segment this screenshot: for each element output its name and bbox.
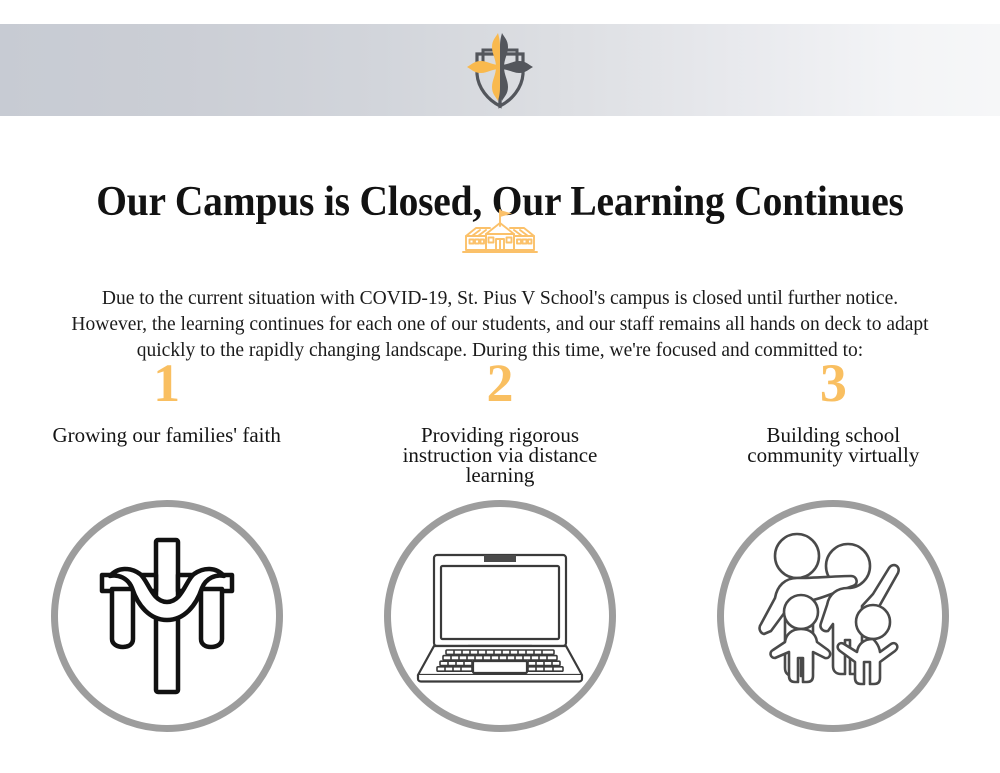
draped-cross-icon bbox=[92, 534, 242, 699]
school-logo bbox=[452, 24, 548, 116]
commitment-icon-cell-1 bbox=[0, 500, 333, 732]
commitment-label-2: Providing rigorous instruction via dista… bbox=[380, 425, 620, 485]
commitment-item-3: 3 Building school community virtually bbox=[667, 355, 1000, 485]
laptop-icon bbox=[412, 549, 588, 683]
cross-shield-logo-icon bbox=[457, 28, 543, 112]
commitment-number-3: 3 bbox=[820, 355, 847, 411]
commitment-icons-row bbox=[0, 500, 1000, 732]
commitment-icon-cell-3 bbox=[667, 500, 1000, 732]
icon-circle-2 bbox=[384, 500, 616, 732]
commitment-item-1: 1 Growing our families' faith bbox=[0, 355, 333, 485]
commitment-number-1: 1 bbox=[153, 355, 180, 411]
icon-circle-1 bbox=[51, 500, 283, 732]
commitment-label-3: Building school community virtually bbox=[718, 425, 948, 465]
commitment-item-2: 2 Providing rigorous instruction via dis… bbox=[333, 355, 666, 485]
commitments-list: 1 Growing our families' faith 2 Providin… bbox=[0, 355, 1000, 485]
intro-paragraph: Due to the current situation with COVID-… bbox=[70, 286, 930, 364]
commitment-icon-cell-2 bbox=[333, 500, 666, 732]
icon-circle-3 bbox=[717, 500, 949, 732]
schoolhouse-glyph bbox=[462, 206, 538, 256]
family-group-icon bbox=[749, 528, 917, 704]
commitment-number-2: 2 bbox=[486, 355, 513, 411]
schoolhouse-icon bbox=[460, 205, 540, 257]
commitment-label-1: Growing our families' faith bbox=[53, 425, 281, 445]
